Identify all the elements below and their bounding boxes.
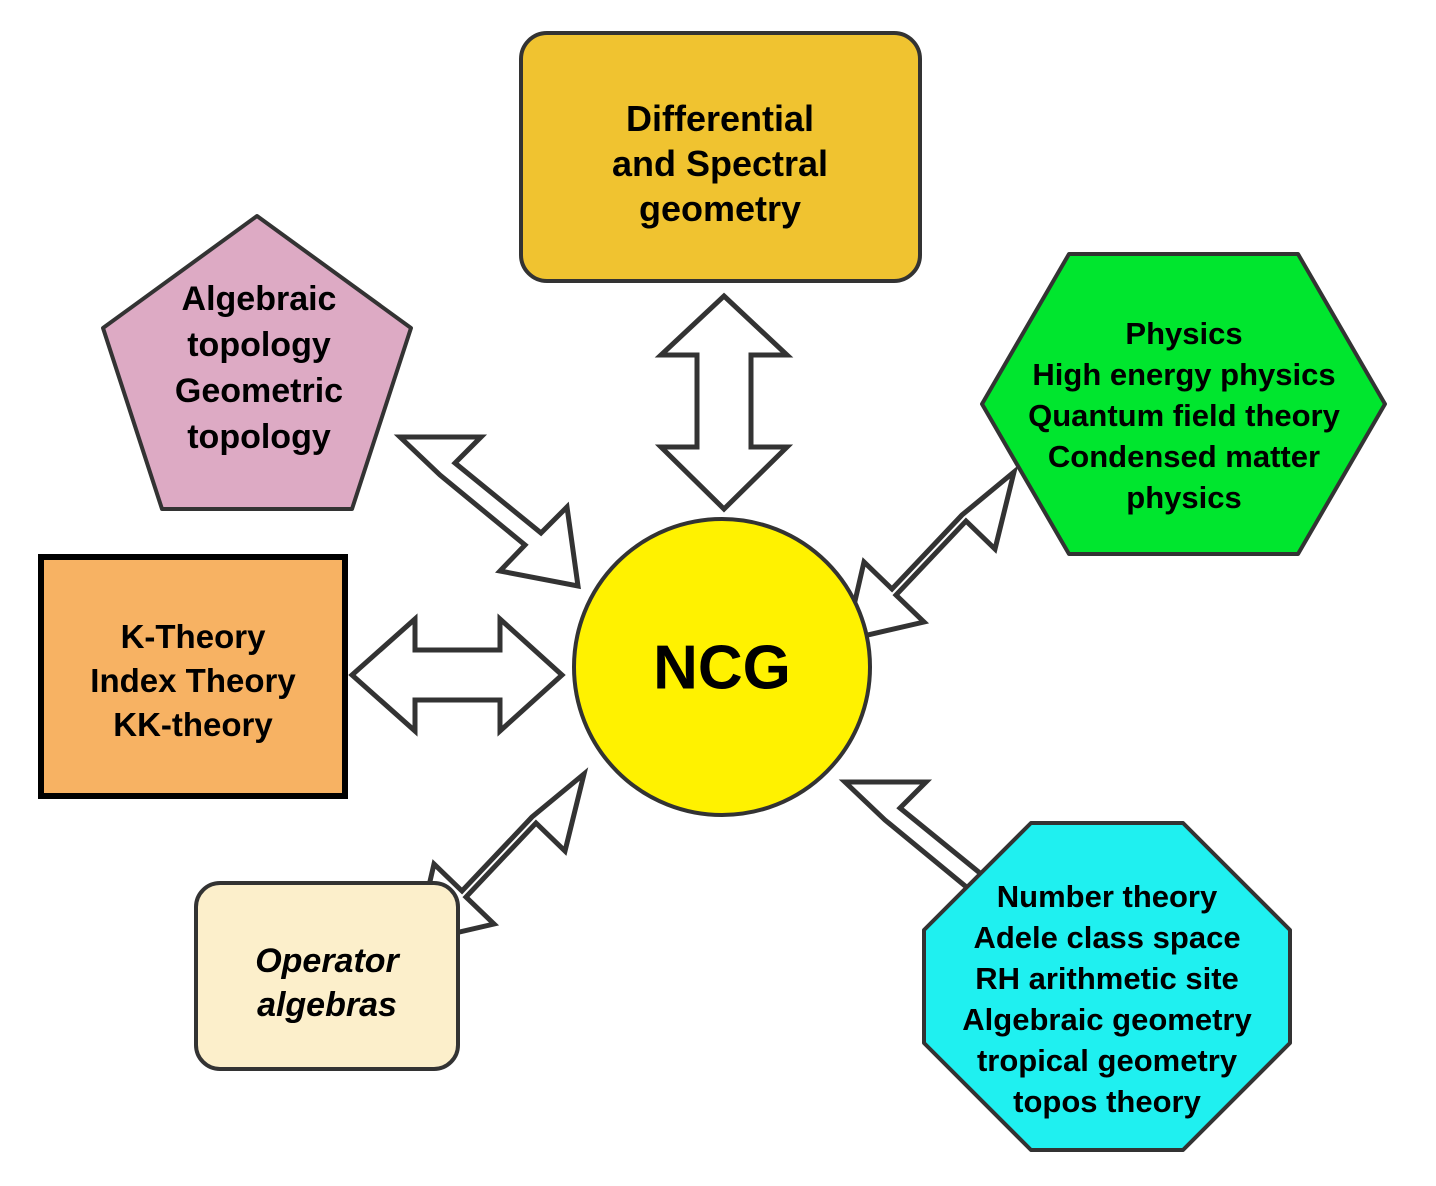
node-number-theory-line-2: RH arithmetic site	[975, 961, 1239, 996]
node-physics-line-2: Quantum field theory	[1028, 398, 1341, 433]
node-algebraic-geometric-topology-line-2: Geometric	[175, 372, 343, 410]
node-physics-line-3: Condensed matter	[1048, 439, 1320, 474]
node-k-theory-line-0: K-Theory	[121, 618, 266, 655]
node-algebraic-geometric-topology-line-1: topology	[187, 326, 331, 364]
connector-ncg-to-physics	[846, 472, 1014, 640]
node-differential-spectral-geometry-line-0: Differential	[626, 98, 814, 139]
node-number-theory-line-3: Algebraic geometry	[962, 1002, 1252, 1037]
node-k-theory-line-1: Index Theory	[90, 662, 296, 699]
node-ncg[interactable]: NCG	[574, 519, 870, 815]
node-number-theory-line-5: topos theory	[1013, 1084, 1201, 1119]
connector-ncg-to-differential-spectral-geometry	[661, 296, 787, 509]
node-k-theory[interactable]: K-Theory Index Theory KK-theory	[41, 557, 345, 796]
node-physics-line-0: Physics	[1125, 316, 1242, 351]
node-physics-line-1: High energy physics	[1032, 357, 1335, 392]
node-algebraic-geometric-topology[interactable]: Algebraic topology Geometric topology	[103, 216, 411, 509]
node-k-theory-line-2: KK-theory	[113, 706, 273, 743]
node-number-theory-line-4: tropical geometry	[977, 1043, 1238, 1078]
node-algebraic-geometric-topology-line-3: topology	[187, 418, 331, 456]
node-physics[interactable]: Physics High energy physics Quantum fiel…	[982, 254, 1385, 554]
node-physics-line-4: physics	[1126, 480, 1241, 515]
node-differential-spectral-geometry-line-2: geometry	[639, 188, 801, 229]
node-operator-algebras-line-1: algebras	[257, 986, 397, 1024]
node-number-theory-line-0: Number theory	[997, 879, 1218, 914]
node-algebraic-geometric-topology-line-0: Algebraic	[182, 280, 337, 318]
node-number-theory-line-1: Adele class space	[973, 920, 1240, 955]
ncg-relationship-diagram: Differential and Spectral geometry Algeb…	[0, 0, 1436, 1186]
node-differential-spectral-geometry[interactable]: Differential and Spectral geometry	[521, 33, 920, 281]
node-differential-spectral-geometry-line-1: and Spectral	[612, 143, 828, 184]
connector-ncg-to-k-theory	[352, 619, 562, 731]
node-operator-algebras-line-0: Operator	[255, 942, 400, 980]
node-ncg-label: NCG	[653, 633, 791, 702]
connector-ncg-to-algebraic-geometric-topology	[400, 437, 578, 586]
node-operator-algebras[interactable]: Operator algebras	[196, 883, 458, 1069]
